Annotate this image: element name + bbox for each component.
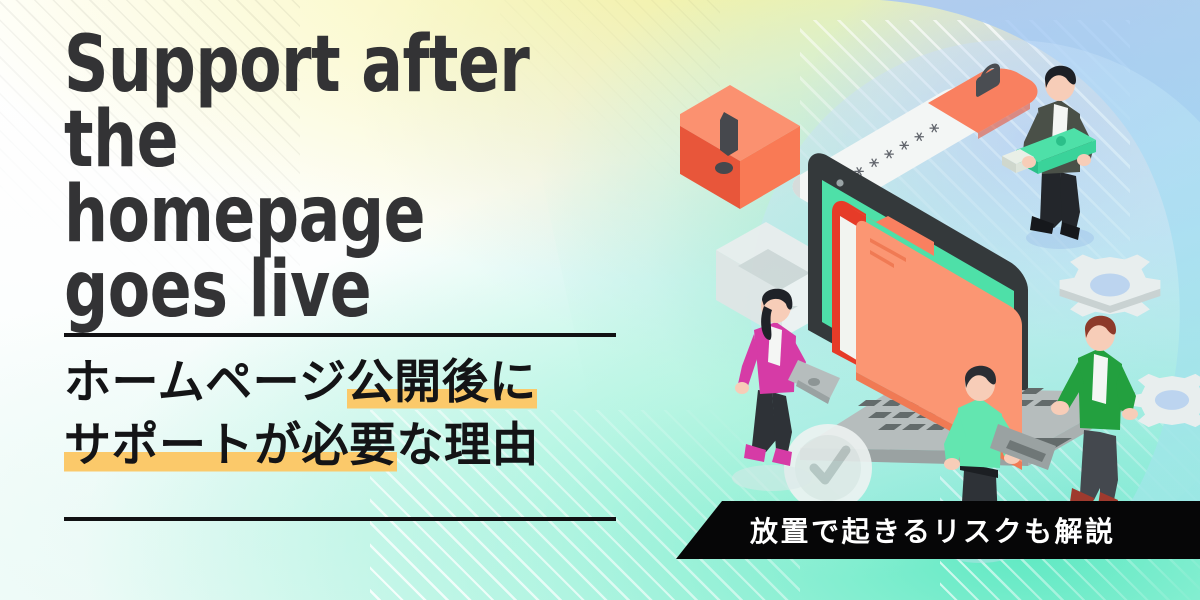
- subtitle-line-2: サポートが必要な理由: [64, 415, 634, 478]
- subtitle-line-1-plain: ホームページ: [64, 355, 347, 410]
- promo-banner: ∗ ∗ ∗ ∗ ∗ ∗ ∗ ∗: [0, 0, 1200, 600]
- divider-bottom: [64, 517, 616, 521]
- subtitle-line-2-highlight: サポートが必要: [64, 418, 397, 473]
- subtitle-line-2-plain: な理由: [397, 418, 540, 473]
- page-title: Support after the homepage goes live: [64, 28, 557, 328]
- divider-top: [64, 333, 616, 337]
- subtitle-line-1: ホームページ公開後に: [64, 352, 634, 415]
- subtitle-line-1-highlight: 公開後に: [347, 355, 537, 410]
- subtitle-block: ホームページ公開後に サポートが必要な理由: [64, 352, 634, 477]
- copy-block: Support after the homepage goes live: [64, 28, 624, 328]
- ribbon-label: 放置で起きるリスクも解説: [750, 510, 1115, 550]
- ribbon-banner: 放置で起きるリスクも解説: [676, 501, 1200, 559]
